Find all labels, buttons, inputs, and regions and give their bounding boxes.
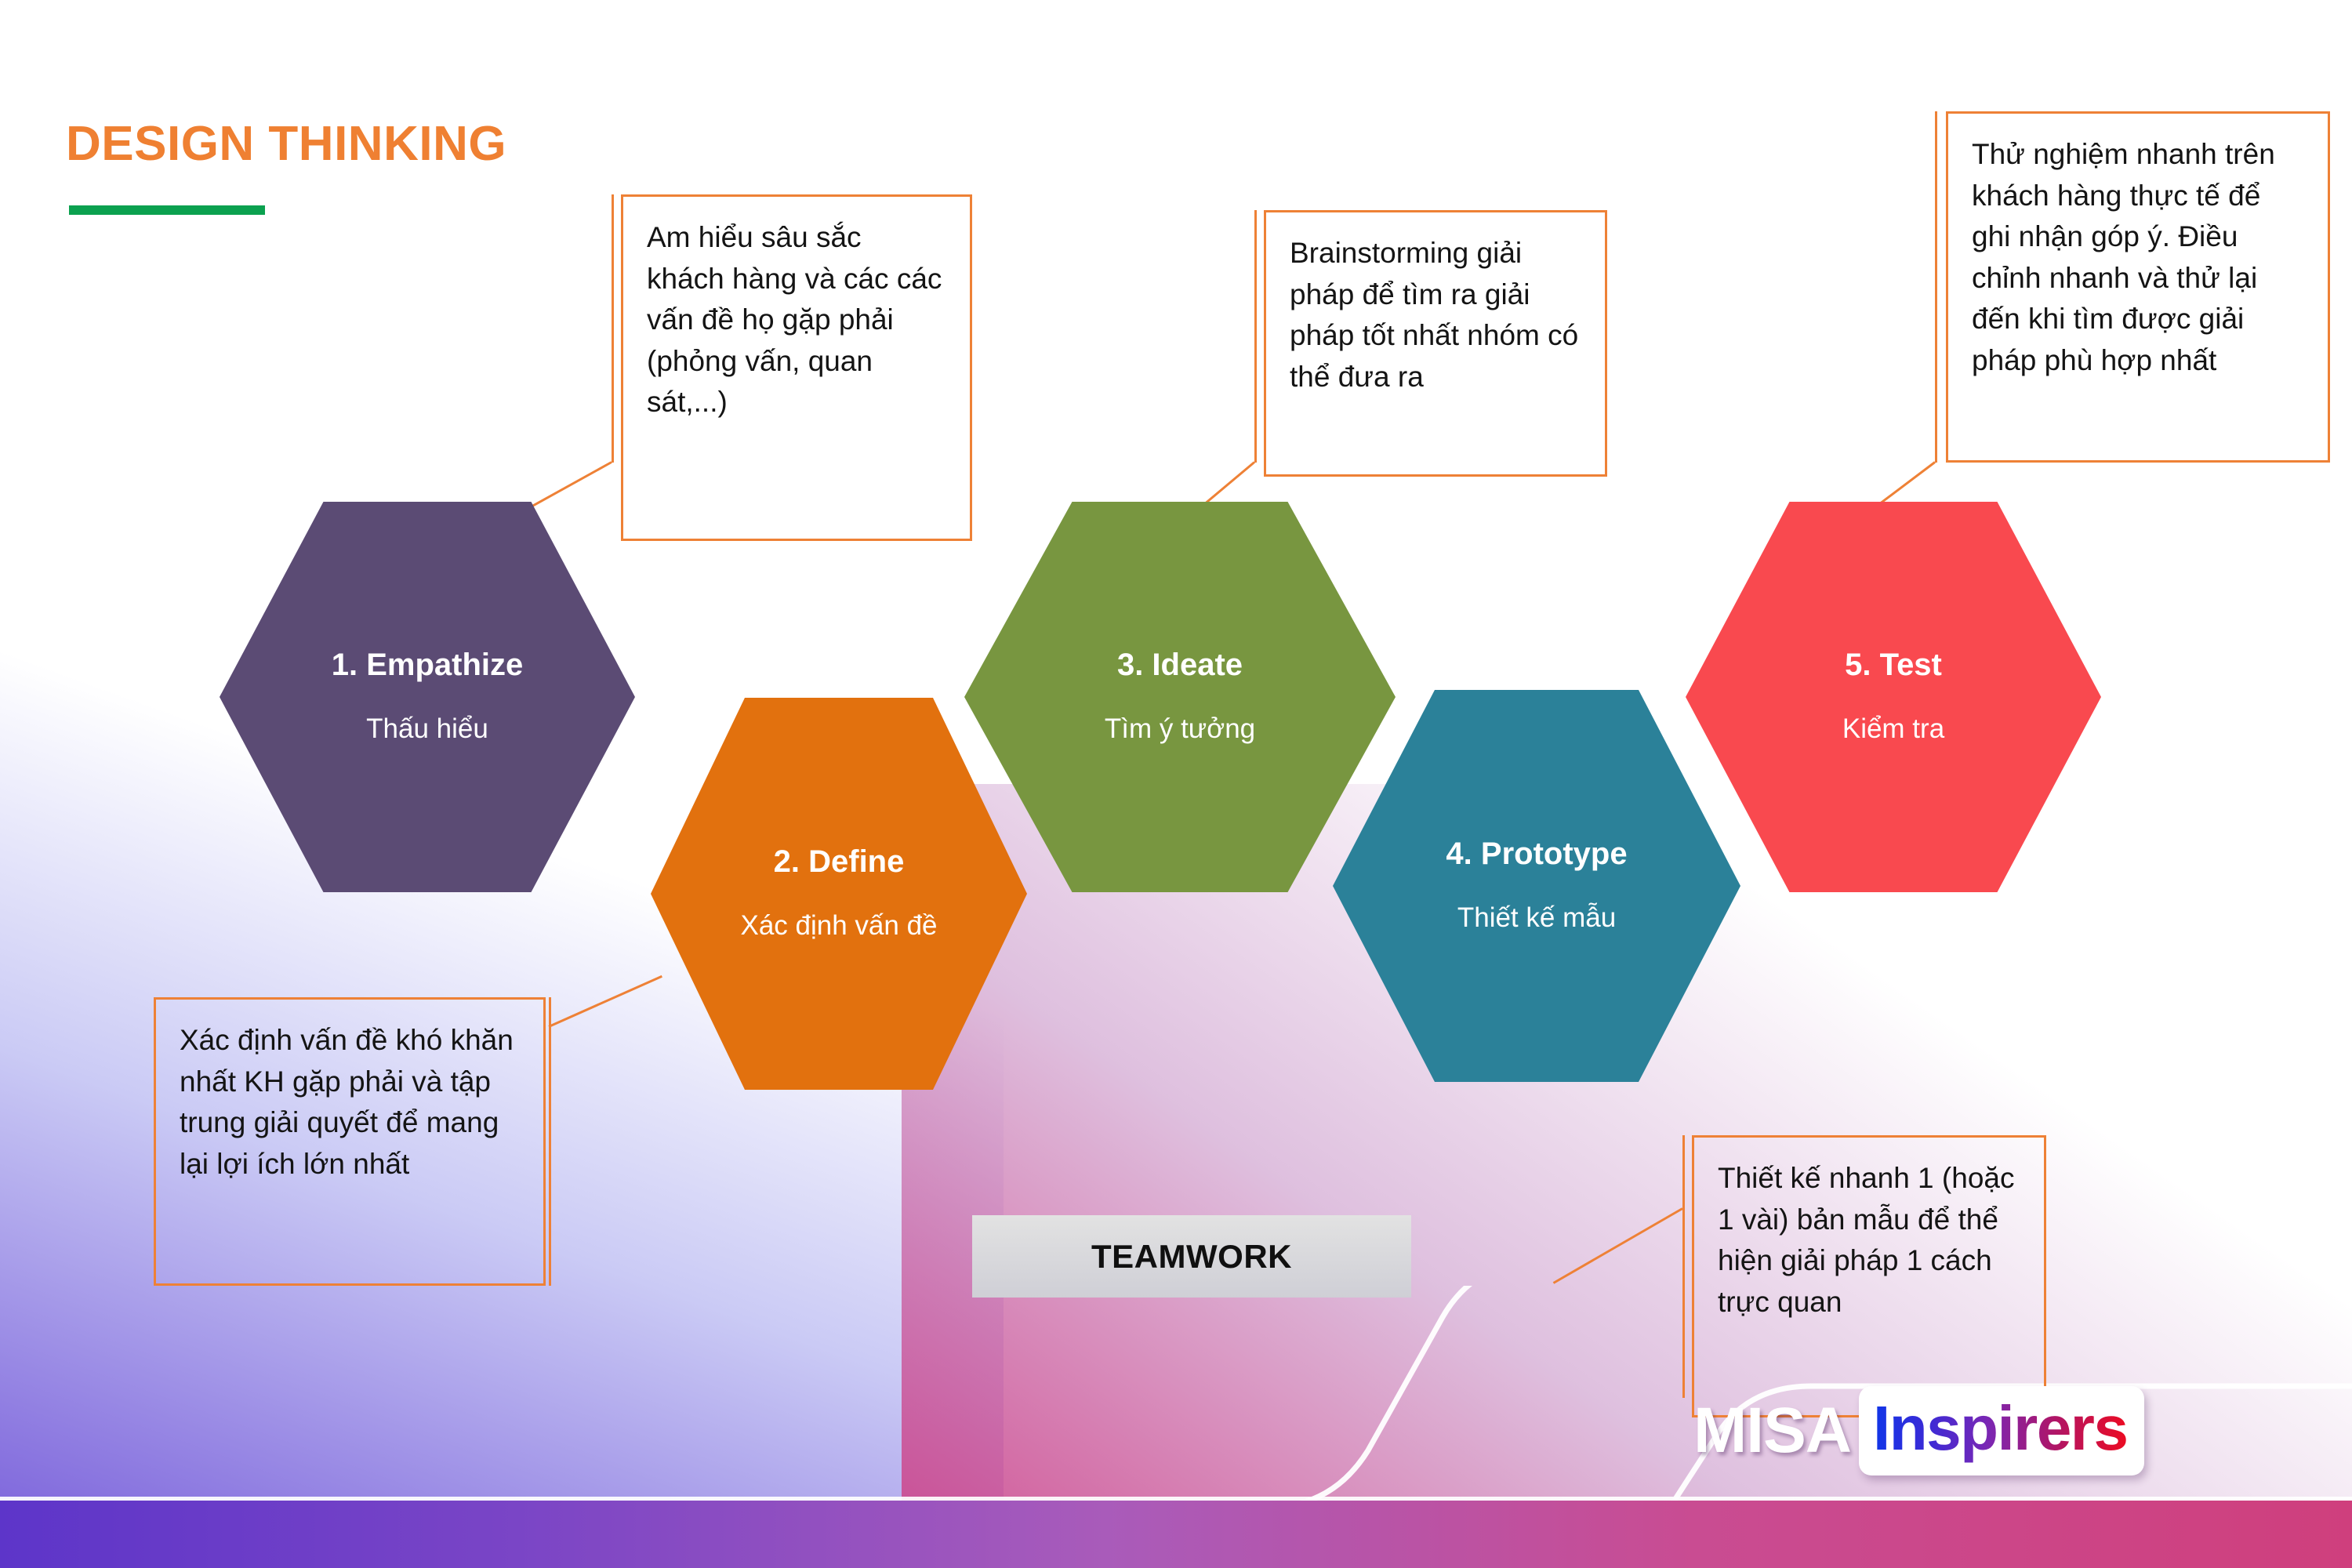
stage-subtitle-define: Xác định vấn đề	[740, 907, 937, 944]
note-ideate: Brainstorming giải pháp để tìm ra giải p…	[1264, 210, 1607, 477]
stage-title-empathize: 1. Empathize	[332, 646, 524, 684]
logo-inspirers-wordmark: Inspirers	[1873, 1392, 2127, 1465]
leader-line-test	[1935, 111, 1937, 463]
logo-misa-wordmark: MISA	[1693, 1394, 1851, 1468]
note-define: Xác định vấn đề khó khăn nhất KH gặp phả…	[154, 997, 546, 1286]
bottom-color-strip	[0, 1501, 2352, 1568]
stage-title-define: 2. Define	[774, 843, 905, 880]
stage-title-test: 5. Test	[1845, 646, 1942, 684]
leader-line-define	[549, 997, 551, 1286]
slide-canvas: DESIGN THINKING 1. Empathize Thấu hiểu 2…	[0, 0, 2352, 1568]
logo-inspirers-chip: Inspirers	[1859, 1386, 2144, 1475]
stage-subtitle-prototype: Thiết kế mẫu	[1457, 899, 1616, 936]
page-title: DESIGN THINKING	[66, 116, 506, 172]
stage-title-ideate: 3. Ideate	[1117, 646, 1243, 684]
title-underline-rule	[69, 205, 265, 215]
teamwork-badge: TEAMWORK	[972, 1215, 1411, 1298]
teamwork-label: TEAMWORK	[1091, 1238, 1292, 1276]
leader-line-prototype	[1682, 1135, 1685, 1398]
note-prototype: Thiết kế nhanh 1 (hoặc 1 vài) bản mẫu để…	[1692, 1135, 2046, 1417]
stage-subtitle-test: Kiểm tra	[1842, 710, 1944, 747]
note-empathize: Am hiểu sâu sắc khách hàng và các các vấ…	[621, 194, 972, 541]
leader-line-ideate	[1254, 210, 1257, 463]
stage-title-prototype: 4. Prototype	[1446, 835, 1627, 873]
leader-line-empathize	[612, 194, 614, 463]
stage-subtitle-ideate: Tìm ý tưởng	[1105, 710, 1255, 747]
note-test: Thử nghiệm nhanh trên khách hàng thực tế…	[1946, 111, 2330, 463]
stage-subtitle-empathize: Thấu hiểu	[366, 710, 488, 747]
misa-inspirers-logo: MISA Inspirers	[1693, 1386, 2144, 1475]
